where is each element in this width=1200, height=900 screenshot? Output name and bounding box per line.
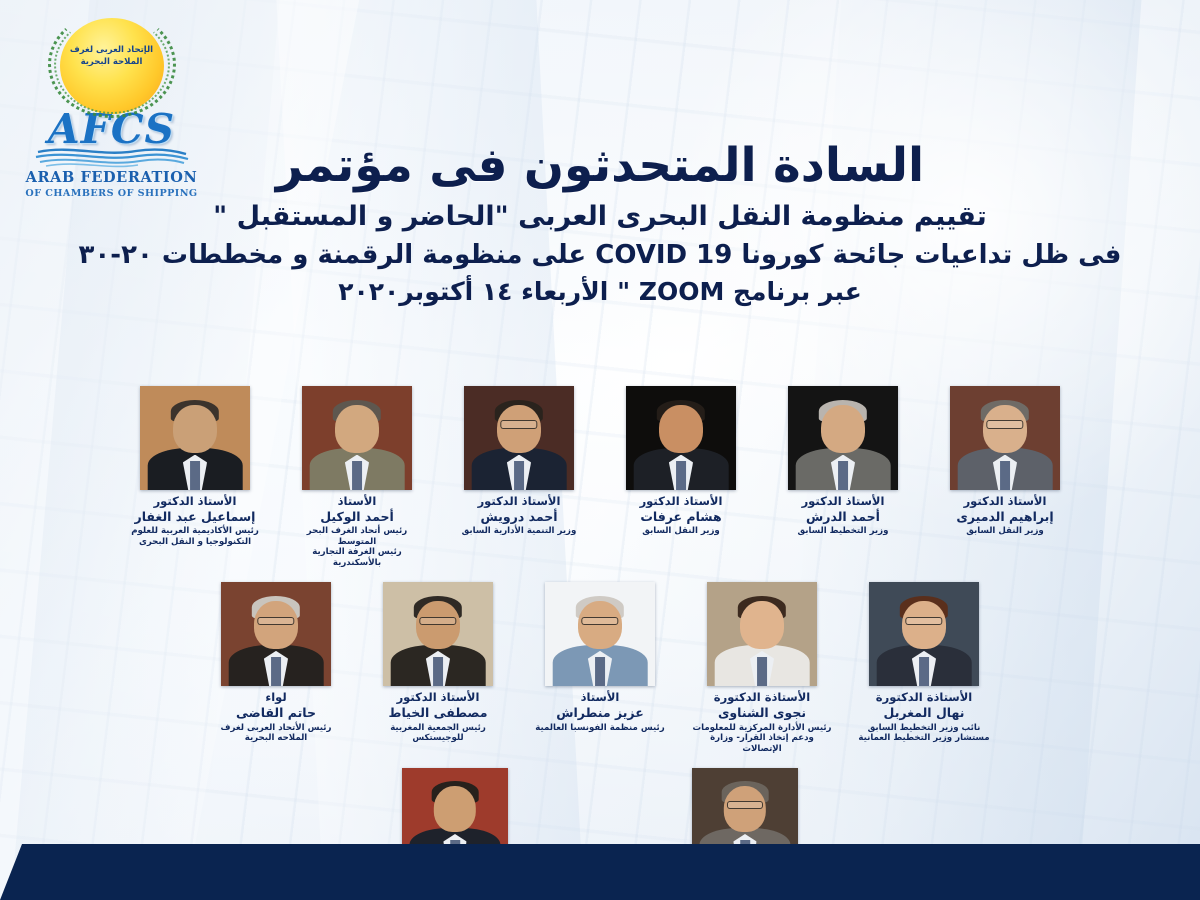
photo-tie [676, 461, 686, 490]
speaker-caption: الأستاذ الدكتورهشام عرفاتوزير النقل السا… [611, 495, 751, 537]
subtitle-line-1: تقييم منظومة النقل البحرى العربى "الحاضر… [0, 201, 1200, 234]
speaker-honorific: الأستاذ الدكتور [935, 495, 1075, 509]
speaker-role: رئيس أتحاد الغرف البحر المتوسطرئيس الغرف… [287, 526, 427, 568]
subtitle-line-2: فى ظل تداعيات جائحة كورونا COVID 19 على … [0, 240, 1200, 272]
speaker-name: مصطفى الخياط [368, 706, 508, 721]
speaker-card: الأستاذة الدكتورةنجوى الشناوىرئيس الأدار… [692, 582, 832, 754]
speaker-honorific: الأستاذ الدكتور [125, 495, 265, 509]
logo-arabic-line-1: الإتحاد العربى لغرف [60, 44, 164, 56]
speaker-photo [140, 386, 250, 490]
speaker-card: لواءحاتم القاضىرئيس الأتحاد العربى لغرف … [206, 582, 346, 743]
speaker-honorific: الأستاذ الدكتور [611, 495, 751, 509]
photo-tie [595, 657, 605, 686]
speaker-card: الأستاذ الدكتورإبراهيم الدميرىوزير النقل… [935, 386, 1075, 537]
photo-tie [271, 657, 281, 686]
speaker-name: حاتم القاضى [206, 706, 346, 721]
speaker-honorific: الأستاذ الدكتور [449, 495, 589, 509]
speaker-role: رئيس منظمة الفونسبا العالمية [530, 723, 670, 733]
speaker-photo [545, 582, 655, 686]
speaker-caption: لواءحاتم القاضىرئيس الأتحاد العربى لغرف … [206, 691, 346, 743]
speaker-caption: الأستاذ الدكتورأحمد الدرشوزير التخطيط ال… [773, 495, 913, 537]
speaker-caption: الأستاذ الدكتورإسماعيل عبد الغفاررئيس ال… [125, 495, 265, 547]
photo-face [983, 405, 1027, 453]
photo-tie [757, 657, 767, 686]
photo-face [416, 601, 460, 649]
speaker-photo [626, 386, 736, 490]
logo-federation-name: ARAB FEDERATION [24, 170, 199, 187]
speaker-name: إسماعيل عبد الغفار [125, 510, 265, 525]
speaker-honorific: الأستاذ [287, 495, 427, 509]
logo-federation-subtitle: OF CHAMBERS OF SHIPPING [24, 188, 199, 199]
speaker-name: أحمد الدرش [773, 510, 913, 525]
speaker-photo [302, 386, 412, 490]
photo-face [740, 601, 784, 649]
speaker-photo [869, 582, 979, 686]
speaker-honorific: الأستاذ الدكتور [773, 495, 913, 509]
speaker-name: أحمد الوكيل [287, 510, 427, 525]
photo-face [254, 601, 298, 649]
conference-poster: الإتحاد العربى لغرف الملاحة البحرية AFCS… [0, 0, 1200, 900]
photo-tie [514, 461, 524, 490]
speaker-card: الأستاذ الدكتورأحمد الدرشوزير التخطيط ال… [773, 386, 913, 537]
speaker-card: الأستاذ الدكتورإسماعيل عبد الغفاررئيس ال… [125, 386, 265, 547]
photo-glasses-icon [257, 617, 294, 625]
afcs-logo: الإتحاد العربى لغرف الملاحة البحرية AFCS… [24, 18, 199, 188]
photo-tie [1000, 461, 1010, 490]
speaker-caption: الأستاذ الدكتورأحمد درويشوزير التنمية ال… [449, 495, 589, 537]
speaker-caption: الأستاذة الدكتورةنهال المغربلنائب وزير ا… [854, 691, 994, 743]
speaker-name: إبراهيم الدميرى [935, 510, 1075, 525]
speaker-role: رئيس الجمعية المغربية للوجيستكس [368, 723, 508, 744]
bottom-accent-bar [0, 844, 1200, 900]
logo-arabic-line-2: الملاحة البحرية [60, 56, 164, 68]
photo-face [335, 405, 379, 453]
speaker-name: هشام عرفات [611, 510, 751, 525]
speaker-card: الأستاذ الدكتورأحمد درويشوزير التنمية ال… [449, 386, 589, 537]
photo-face [902, 601, 946, 649]
speaker-honorific: الأستاذة الدكتورة [854, 691, 994, 705]
speaker-card: الأستاذة الدكتورةنهال المغربلنائب وزير ا… [854, 582, 994, 743]
speaker-photo [950, 386, 1060, 490]
speaker-caption: الأستاذعزيز منطراشرئيس منظمة الفونسبا ال… [530, 691, 670, 733]
speakers-row-1: الأستاذ الدكتورإبراهيم الدميرىوزير النقل… [0, 386, 1200, 568]
photo-tie [433, 657, 443, 686]
speaker-role: وزير النقل السابق [935, 526, 1075, 536]
speaker-name: عزيز منطراش [530, 706, 670, 721]
speaker-photo [464, 386, 574, 490]
logo-sun-emblem: الإتحاد العربى لغرف الملاحة البحرية [60, 18, 164, 114]
photo-face [659, 405, 703, 453]
speaker-role: وزير التخطيط السابق [773, 526, 913, 536]
speaker-role: رئيس الأدارة المركزية للمعلوماتودعم إتخا… [692, 723, 832, 754]
photo-tie [919, 657, 929, 686]
speaker-role: وزير التنمية الأدارية السابق [449, 526, 589, 536]
photo-tie [190, 461, 200, 490]
speakers-row-2: الأستاذة الدكتورةنهال المغربلنائب وزير ا… [0, 582, 1200, 754]
speaker-role: رئيس الأتحاد العربى لغرف الملاحه البحرية [206, 723, 346, 744]
logo-arabic-text: الإتحاد العربى لغرف الملاحة البحرية [60, 44, 164, 69]
subtitle-line-3: عبر برنامج ZOOM " الأربعاء ١٤ أكتوبر٢٠٢٠ [0, 277, 1200, 308]
photo-glasses-icon [905, 617, 942, 625]
speaker-photo [383, 582, 493, 686]
photo-glasses-icon [500, 420, 537, 428]
photo-face [724, 786, 766, 832]
photo-face [434, 786, 476, 832]
speaker-name: نهال المغربل [854, 706, 994, 721]
speaker-name: أحمد درويش [449, 510, 589, 525]
speaker-role: نائب وزير التخطيط السابقمستشار وزير التخ… [854, 723, 994, 744]
speaker-photo [707, 582, 817, 686]
speaker-caption: الأستاذ الدكتورمصطفى الخياطرئيس الجمعية … [368, 691, 508, 743]
speaker-caption: الأستاذة الدكتورةنجوى الشناوىرئيس الأدار… [692, 691, 832, 754]
photo-glasses-icon [727, 801, 763, 809]
photo-glasses-icon [419, 617, 456, 625]
speaker-honorific: الأستاذ [530, 691, 670, 705]
photo-glasses-icon [986, 420, 1023, 428]
logo-waves-icon [24, 147, 199, 169]
photo-face [578, 601, 622, 649]
speaker-role: وزير النقل السابق [611, 526, 751, 536]
speaker-card: الأستاذ الدكتورهشام عرفاتوزير النقل السا… [611, 386, 751, 537]
speaker-card: الأستاذ الدكتورمصطفى الخياطرئيس الجمعية … [368, 582, 508, 743]
photo-glasses-icon [581, 617, 618, 625]
speaker-caption: الأستاذ الدكتورإبراهيم الدميرىوزير النقل… [935, 495, 1075, 537]
photo-face [821, 405, 865, 453]
speaker-card: الأستاذعزيز منطراشرئيس منظمة الفونسبا ال… [530, 582, 670, 733]
speaker-caption: الأستاذأحمد الوكيلرئيس أتحاد الغرف البحر… [287, 495, 427, 568]
photo-tie [352, 461, 362, 490]
speaker-honorific: الأستاذة الدكتورة [692, 691, 832, 705]
speakers-grid: الأستاذ الدكتورإبراهيم الدميرىوزير النقل… [0, 386, 1200, 900]
speaker-card: الأستاذأحمد الوكيلرئيس أتحاد الغرف البحر… [287, 386, 427, 568]
speaker-role: رئيس الأكاديمية العربية للعلومالتكنولوجي… [125, 526, 265, 547]
photo-face [497, 405, 541, 453]
photo-tie [838, 461, 848, 490]
speaker-name: نجوى الشناوى [692, 706, 832, 721]
speaker-photo [221, 582, 331, 686]
speaker-honorific: لواء [206, 691, 346, 705]
speaker-honorific: الأستاذ الدكتور [368, 691, 508, 705]
speaker-photo [788, 386, 898, 490]
photo-face [173, 405, 217, 453]
